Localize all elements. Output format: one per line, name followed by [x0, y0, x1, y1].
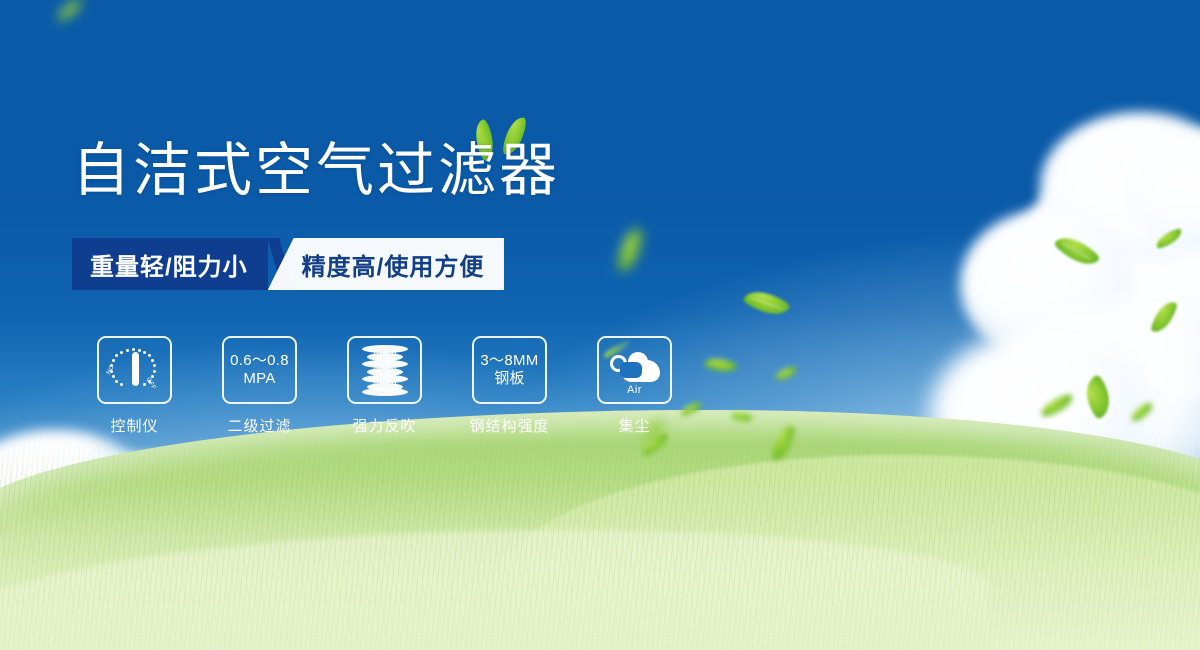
- pressure-line-2: MPA: [230, 370, 289, 388]
- air-cloud-icon: Air: [608, 348, 662, 392]
- feature-label: 集尘: [618, 415, 650, 436]
- product-hero-banner: 自洁式空气过滤器 重量轻/阻力小 精度高/使用方便: [0, 0, 1200, 650]
- subtitle-left-text: 重量轻/阻力小: [72, 238, 268, 290]
- pressure-text-icon: 0.6〜0.8 MPA: [230, 352, 289, 387]
- feature-icon-box: Air: [597, 336, 672, 404]
- feature-item-secondary-filtration[interactable]: 0.6〜0.8 MPA 二级过滤: [197, 336, 322, 436]
- feature-list: NO OFF 控制仪 0.6〜0.8 MPA 二级过滤: [72, 336, 697, 436]
- control-dial-icon: NO OFF: [106, 345, 164, 395]
- feature-item-control-instrument[interactable]: NO OFF 控制仪: [72, 336, 197, 436]
- pressure-line-1: 0.6〜0.8: [230, 352, 289, 370]
- feature-icon-box: NO OFF: [97, 336, 172, 404]
- subtitle-right-text: 精度高/使用方便: [268, 238, 505, 290]
- steel-plate-text-icon: 3〜8MM 钢板: [480, 352, 538, 387]
- feature-label: 二级过滤: [227, 415, 291, 436]
- page-title: 自洁式空气过滤器: [72, 142, 560, 200]
- feature-icon-box: [347, 336, 422, 404]
- subtitle-banner: 重量轻/阻力小 精度高/使用方便: [72, 238, 504, 290]
- filter-cartridge-icon: [362, 345, 408, 395]
- dial-on-label: NO: [105, 364, 115, 375]
- steel-line-1: 3〜8MM: [480, 352, 538, 370]
- grass-texture: [0, 435, 1200, 650]
- feature-item-strong-blowback[interactable]: 强力反吹: [322, 336, 447, 436]
- feature-item-dust-collection[interactable]: Air 集尘: [572, 336, 697, 436]
- feature-icon-box: 0.6〜0.8 MPA: [222, 336, 297, 404]
- feature-icon-box: 3〜8MM 钢板: [472, 336, 547, 404]
- feature-label: 强力反吹: [352, 415, 416, 436]
- air-label: Air: [608, 384, 662, 396]
- feature-item-steel-strength[interactable]: 3〜8MM 钢板 钢结构强度: [447, 336, 572, 436]
- dial-pointer: [132, 352, 139, 386]
- feature-label: 钢结构强度: [469, 415, 549, 436]
- cloud-overlap-mask: [620, 362, 642, 378]
- feature-label: 控制仪: [110, 415, 158, 436]
- steel-line-2: 钢板: [480, 370, 538, 388]
